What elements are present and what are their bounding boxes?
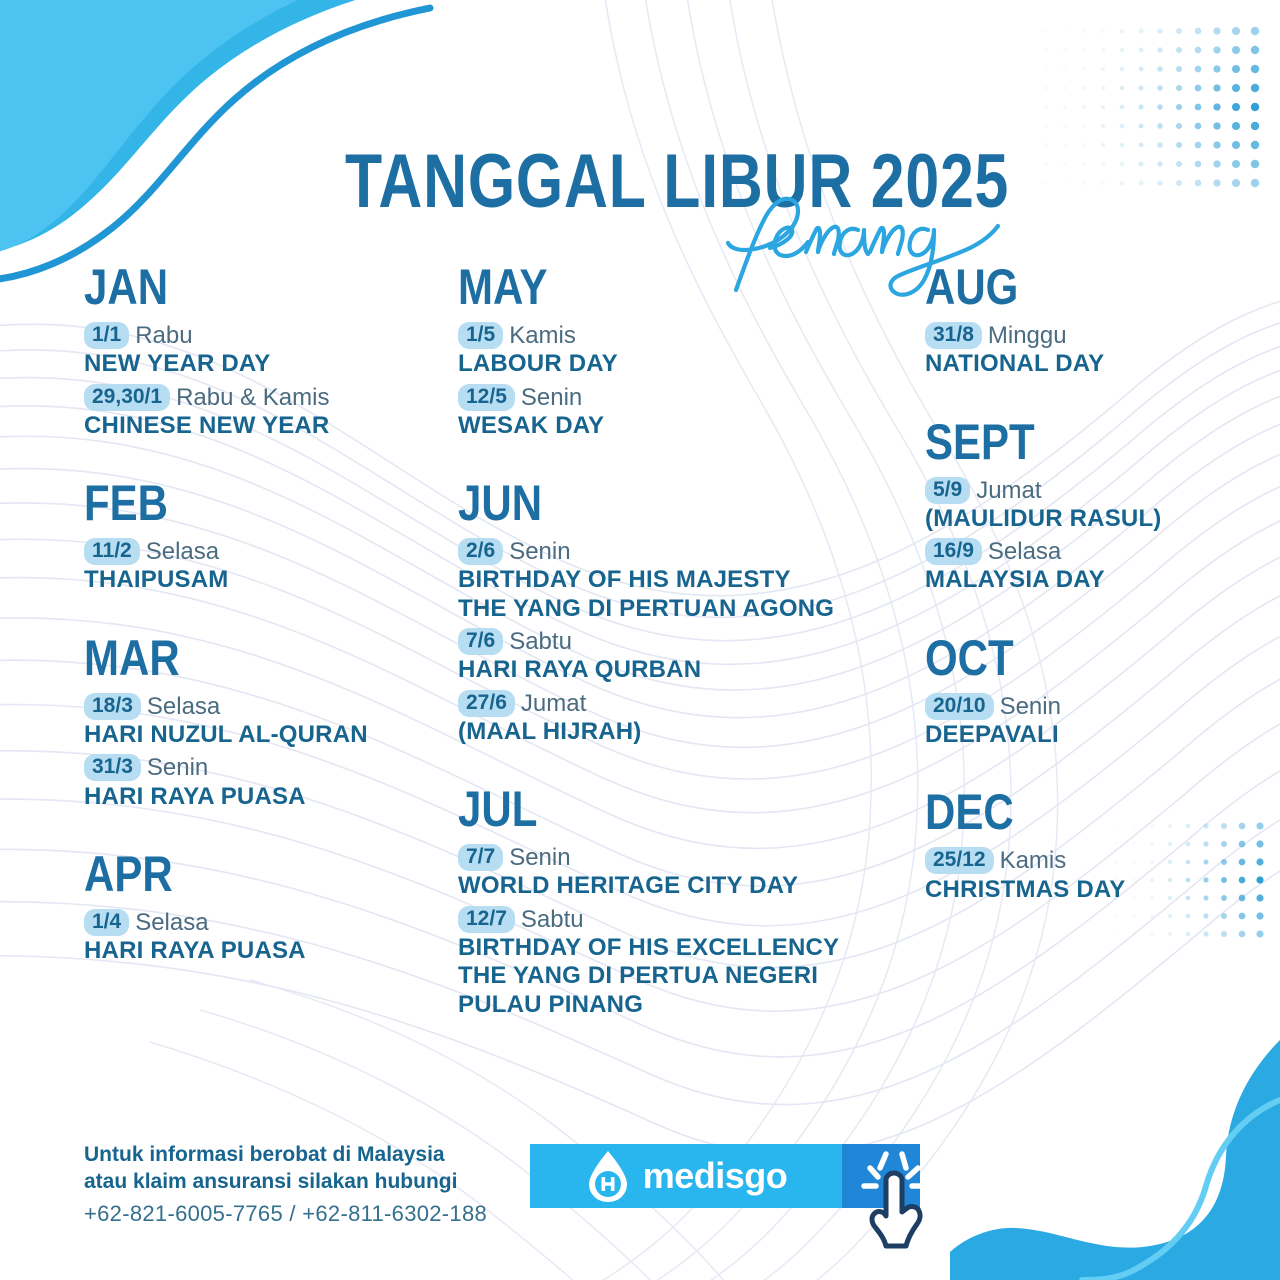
holiday-name: PULAU PINANG xyxy=(458,991,898,1019)
holiday-date-line: 5/9Jumat xyxy=(925,476,1265,505)
holiday-name: WESAK DAY xyxy=(458,412,898,440)
water-drop-icon xyxy=(585,1149,631,1203)
day-name-label: Senin xyxy=(1000,692,1061,721)
column-2: MAY1/5KamisLABOUR DAY12/5SeninWESAK DAYJ… xyxy=(458,262,898,1023)
day-name-label: Kamis xyxy=(1000,846,1067,875)
brand-name-label: medisgo xyxy=(643,1155,788,1197)
holiday-date-line: 1/4Selasa xyxy=(84,908,454,937)
month-block-dec: DEC25/12KamisCHRISTMAS DAY xyxy=(925,787,1265,904)
date-badge: 2/6 xyxy=(458,538,503,565)
date-badge: 1/5 xyxy=(458,322,503,349)
holiday-date-line: 25/12Kamis xyxy=(925,846,1265,875)
month-heading: DEC xyxy=(925,787,1211,838)
holiday-entry: 11/2SelasaTHAIPUSAM xyxy=(84,537,454,595)
holiday-name: HARI NUZUL AL-QURAN xyxy=(84,721,454,749)
date-badge: 12/5 xyxy=(458,384,515,411)
holiday-entry: 20/10SeninDEEPAVALI xyxy=(925,692,1265,750)
holiday-name: HARI RAYA QURBAN xyxy=(458,656,898,684)
column-3: AUG31/8MingguNATIONAL DAYSEPT5/9Jumat(MA… xyxy=(925,262,1265,908)
holiday-entry: 18/3SelasaHARI NUZUL AL-QURAN xyxy=(84,692,454,750)
date-badge: 20/10 xyxy=(925,693,994,720)
day-name-label: Sabtu xyxy=(521,905,584,934)
month-block-may: MAY1/5KamisLABOUR DAY12/5SeninWESAK DAY xyxy=(458,262,898,440)
holiday-name: MALAYSIA DAY xyxy=(925,566,1265,594)
date-badge: 27/6 xyxy=(458,690,515,717)
holiday-date-line: 18/3Selasa xyxy=(84,692,454,721)
holiday-date-line: 29,30/1Rabu & Kamis xyxy=(84,383,454,412)
month-heading: SEPT xyxy=(925,417,1211,468)
holiday-entry: 12/7SabtuBIRTHDAY OF HIS EXCELLENCYTHE Y… xyxy=(458,905,898,1019)
day-name-label: Selasa xyxy=(135,908,208,937)
day-name-label: Senin xyxy=(521,383,582,412)
holiday-date-line: 1/5Kamis xyxy=(458,321,898,350)
date-badge: 7/6 xyxy=(458,628,503,655)
holiday-name: THE YANG DI PERTUA NEGERI xyxy=(458,962,898,990)
holiday-entry: 1/1RabuNEW YEAR DAY xyxy=(84,321,454,379)
month-heading: MAY xyxy=(458,262,828,313)
holiday-name: BIRTHDAY OF HIS EXCELLENCY xyxy=(458,934,898,962)
date-badge: 7/7 xyxy=(458,844,503,871)
holiday-name: NEW YEAR DAY xyxy=(84,350,454,378)
holiday-entry: 1/5KamisLABOUR DAY xyxy=(458,321,898,379)
holiday-name: LABOUR DAY xyxy=(458,350,898,378)
holiday-entry: 16/9SelasaMALAYSIA DAY xyxy=(925,537,1265,595)
holiday-entry: 1/4SelasaHARI RAYA PUASA xyxy=(84,908,454,966)
date-badge: 1/4 xyxy=(84,909,129,936)
contact-phone-numbers: +62-821-6005-7765 / +62-811-6302-188 xyxy=(84,1201,487,1227)
holiday-entry: 29,30/1Rabu & KamisCHINESE NEW YEAR xyxy=(84,383,454,441)
holiday-name: CHRISTMAS DAY xyxy=(925,876,1265,904)
date-badge: 25/12 xyxy=(925,847,994,874)
month-heading: AUG xyxy=(925,262,1211,313)
day-name-label: Rabu & Kamis xyxy=(176,383,329,412)
poster-header: TANGGAL LIBUR 2025 xyxy=(0,60,1280,250)
holiday-date-line: 11/2Selasa xyxy=(84,537,454,566)
month-block-sept: SEPT5/9Jumat(MAULIDUR RASUL)16/9SelasaMA… xyxy=(925,417,1265,595)
holiday-name: (MAAL HIJRAH) xyxy=(458,718,898,746)
holiday-date-line: 31/8Minggu xyxy=(925,321,1265,350)
holiday-date-line: 27/6Jumat xyxy=(458,689,898,718)
date-badge: 5/9 xyxy=(925,477,970,504)
holiday-date-line: 20/10Senin xyxy=(925,692,1265,721)
holiday-date-line: 31/3Senin xyxy=(84,753,454,782)
holiday-date-line: 16/9Selasa xyxy=(925,537,1265,566)
month-heading: MAR xyxy=(84,633,395,684)
holiday-entry: 7/6SabtuHARI RAYA QURBAN xyxy=(458,627,898,685)
day-name-label: Selasa xyxy=(988,537,1061,566)
month-block-apr: APR1/4SelasaHARI RAYA PUASA xyxy=(84,849,454,966)
month-block-mar: MAR18/3SelasaHARI NUZUL AL-QURAN31/3Seni… xyxy=(84,633,454,811)
month-block-jun: JUN2/6SeninBIRTHDAY OF HIS MAJESTYTHE YA… xyxy=(458,478,898,746)
holiday-entry: 31/3SeninHARI RAYA PUASA xyxy=(84,753,454,811)
month-block-oct: OCT20/10SeninDEEPAVALI xyxy=(925,633,1265,750)
holiday-date-line: 2/6Senin xyxy=(458,537,898,566)
day-name-label: Senin xyxy=(147,753,208,782)
holiday-entry: 5/9Jumat(MAULIDUR RASUL) xyxy=(925,476,1265,534)
poster-footer: Untuk informasi berobat di Malaysia atau… xyxy=(84,1134,1204,1244)
day-name-label: Senin xyxy=(509,843,570,872)
click-cta-square[interactable] xyxy=(842,1144,920,1208)
day-name-label: Senin xyxy=(509,537,570,566)
day-name-label: Selasa xyxy=(147,692,220,721)
holiday-date-line: 12/7Sabtu xyxy=(458,905,898,934)
month-heading: JAN xyxy=(84,262,395,313)
month-heading: JUL xyxy=(458,784,828,835)
date-badge: 16/9 xyxy=(925,538,982,565)
medisgo-brand-bar[interactable]: medisgo xyxy=(530,1144,920,1208)
holiday-entry: 31/8MingguNATIONAL DAY xyxy=(925,321,1265,379)
contact-line-1: Untuk informasi berobat di Malaysia xyxy=(84,1142,487,1169)
holiday-entry: 12/5SeninWESAK DAY xyxy=(458,383,898,441)
contact-text-block: Untuk informasi berobat di Malaysia atau… xyxy=(84,1142,487,1227)
holiday-name: BIRTHDAY OF HIS MAJESTY xyxy=(458,566,898,594)
month-heading: OCT xyxy=(925,633,1211,684)
day-name-label: Jumat xyxy=(521,689,586,718)
holiday-name: THAIPUSAM xyxy=(84,566,454,594)
date-badge: 31/8 xyxy=(925,322,982,349)
holiday-date-line: 7/6Sabtu xyxy=(458,627,898,656)
date-badge: 18/3 xyxy=(84,693,141,720)
date-badge: 31/3 xyxy=(84,754,141,781)
day-name-label: Selasa xyxy=(146,537,219,566)
date-badge: 12/7 xyxy=(458,906,515,933)
holiday-name: HARI RAYA PUASA xyxy=(84,937,454,965)
month-block-jan: JAN1/1RabuNEW YEAR DAY29,30/1Rabu & Kami… xyxy=(84,262,454,440)
day-name-label: Sabtu xyxy=(509,627,572,656)
holiday-name: WORLD HERITAGE CITY DAY xyxy=(458,872,898,900)
date-badge: 1/1 xyxy=(84,322,129,349)
holiday-entry: 25/12KamisCHRISTMAS DAY xyxy=(925,846,1265,904)
holiday-name: NATIONAL DAY xyxy=(925,350,1265,378)
holiday-date-line: 1/1Rabu xyxy=(84,321,454,350)
holiday-name: (MAULIDUR RASUL) xyxy=(925,505,1265,533)
month-heading: APR xyxy=(84,849,395,900)
holiday-entry: 27/6Jumat(MAAL HIJRAH) xyxy=(458,689,898,747)
month-heading: JUN xyxy=(458,478,828,529)
hand-click-cursor-icon xyxy=(846,1146,942,1256)
holiday-name: HARI RAYA PUASA xyxy=(84,783,454,811)
holiday-name: CHINESE NEW YEAR xyxy=(84,412,454,440)
contact-line-2: atau klaim ansuransi silakan hubungi xyxy=(84,1169,487,1196)
holiday-date-line: 12/5Senin xyxy=(458,383,898,412)
day-name-label: Minggu xyxy=(988,321,1067,350)
holiday-date-line: 7/7Senin xyxy=(458,843,898,872)
holiday-name: THE YANG DI PERTUAN AGONG xyxy=(458,595,898,623)
medisgo-logo-banner[interactable]: medisgo xyxy=(530,1144,842,1208)
holiday-name: DEEPAVALI xyxy=(925,721,1265,749)
column-1: JAN1/1RabuNEW YEAR DAY29,30/1Rabu & Kami… xyxy=(84,262,454,969)
month-block-aug: AUG31/8MingguNATIONAL DAY xyxy=(925,262,1265,379)
day-name-label: Kamis xyxy=(509,321,576,350)
holiday-entry: 2/6SeninBIRTHDAY OF HIS MAJESTYTHE YANG … xyxy=(458,537,898,623)
month-heading: FEB xyxy=(84,478,395,529)
date-badge: 29,30/1 xyxy=(84,384,170,411)
day-name-label: Rabu xyxy=(135,321,192,350)
date-badge: 11/2 xyxy=(84,538,140,565)
holiday-entry: 7/7SeninWORLD HERITAGE CITY DAY xyxy=(458,843,898,901)
month-block-jul: JUL7/7SeninWORLD HERITAGE CITY DAY12/7Sa… xyxy=(458,784,898,1019)
day-name-label: Jumat xyxy=(976,476,1041,505)
month-block-feb: FEB11/2SelasaTHAIPUSAM xyxy=(84,478,454,595)
